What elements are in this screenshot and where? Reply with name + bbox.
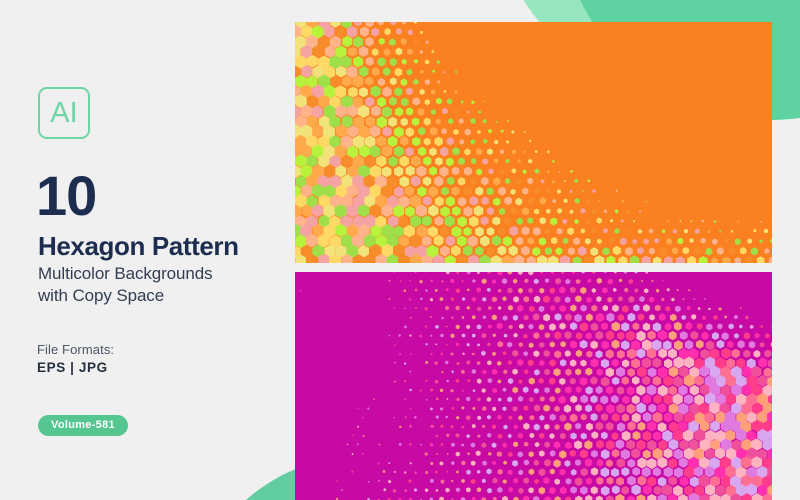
subtitle-line-1: Multicolor Backgrounds [38,263,288,285]
page-subtitle: Multicolor Backgrounds with Copy Space [38,263,288,307]
orange-hexagon-pattern [295,22,772,263]
magenta-hexagon-pattern [295,272,772,500]
ai-badge-label: AI [50,99,77,128]
volume-badge: Volume-581 [38,415,128,436]
magenta-hexagon-preview[interactable] [295,272,772,500]
info-column: AI 10 Hexagon Pattern Multicolor Backgro… [0,0,295,500]
ai-format-badge: AI [38,87,90,139]
file-formats-label: File Formats: [37,342,114,357]
item-count: 10 [36,168,96,224]
orange-hexagon-preview[interactable] [295,22,772,263]
poster-canvas: AI 10 Hexagon Pattern Multicolor Backgro… [0,0,800,500]
file-formats-value: EPS | JPG [37,360,108,375]
subtitle-line-2: with Copy Space [38,285,288,307]
page-title: Hexagon Pattern [38,232,239,261]
